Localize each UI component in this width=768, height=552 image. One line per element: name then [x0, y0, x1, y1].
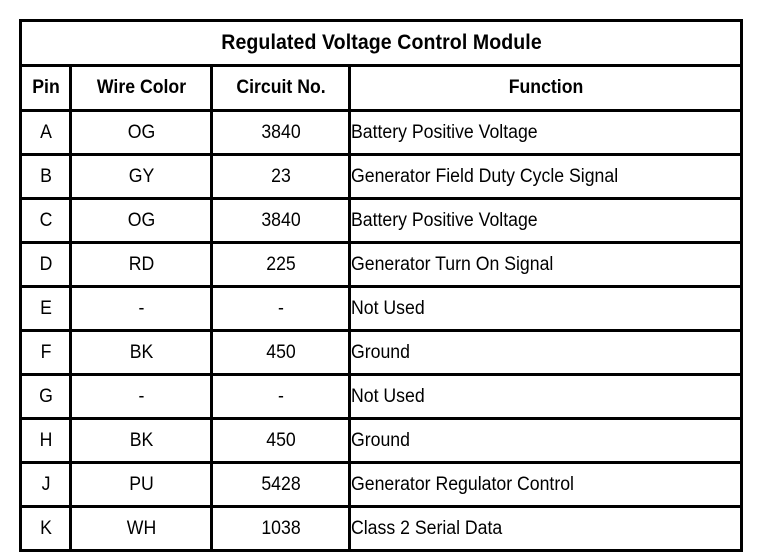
cell-function-text: Battery Positive Voltage [351, 210, 538, 232]
cell-wire-color: - [75, 287, 206, 331]
column-header-wire-color: Wire Color [75, 66, 206, 111]
cell-function: Not Used [350, 287, 742, 331]
cell-wire-color: BK [75, 419, 206, 463]
table-row: KWH1038Class 2 Serial Data [21, 507, 742, 551]
cell-wire-color: PU [75, 463, 206, 507]
cell-function-text: Not Used [351, 298, 425, 320]
cell-circuit-no: 3840 [216, 199, 344, 243]
table-row: AOG3840Battery Positive Voltage [21, 111, 742, 155]
cell-function: Generator Field Duty Cycle Signal [350, 155, 742, 199]
cell-wire-color: RD [75, 243, 206, 287]
cell-wire-color: OG [75, 199, 206, 243]
cell-pin: C [22, 199, 69, 243]
cell-function-text: Battery Positive Voltage [351, 122, 538, 144]
cell-wire-color: WH [75, 507, 206, 551]
table-body: AOG3840Battery Positive VoltageBGY23Gene… [21, 111, 742, 551]
column-header-circuit-no: Circuit No. [216, 66, 344, 111]
page-root: Regulated Voltage Control Module Pin Wir… [0, 0, 768, 532]
cell-pin: D [22, 243, 69, 287]
cell-function: Battery Positive Voltage [350, 199, 742, 243]
cell-circuit-no: 450 [216, 331, 344, 375]
cell-function-text: Generator Field Duty Cycle Signal [351, 166, 618, 188]
cell-pin: G [22, 375, 69, 419]
cell-function-text: Ground [351, 430, 410, 452]
table-row: BGY23Generator Field Duty Cycle Signal [21, 155, 742, 199]
cell-pin: E [22, 287, 69, 331]
table-row: DRD225Generator Turn On Signal [21, 243, 742, 287]
cell-function: Ground [350, 419, 742, 463]
cell-circuit-no: 5428 [216, 463, 344, 507]
cell-circuit-no: 3840 [216, 111, 344, 155]
column-header-function: Function [363, 66, 728, 111]
cell-pin: B [22, 155, 69, 199]
cell-function-text: Ground [351, 342, 410, 364]
cell-function-text: Generator Regulator Control [351, 474, 574, 496]
table-title-row: Regulated Voltage Control Module [21, 21, 742, 66]
cell-function: Generator Turn On Signal [350, 243, 742, 287]
table-row: FBK450Ground [21, 331, 742, 375]
cell-wire-color: GY [75, 155, 206, 199]
cell-circuit-no: 225 [216, 243, 344, 287]
cell-function: Class 2 Serial Data [350, 507, 742, 551]
cell-wire-color: BK [75, 331, 206, 375]
cell-pin: A [22, 111, 69, 155]
pinout-table: Regulated Voltage Control Module Pin Wir… [19, 19, 743, 552]
cell-function: Battery Positive Voltage [350, 111, 742, 155]
cell-circuit-no: - [216, 287, 344, 331]
cell-pin: H [22, 419, 69, 463]
cell-function-text: Generator Turn On Signal [351, 254, 553, 276]
cell-function-text: Class 2 Serial Data [351, 518, 502, 540]
table-title: Regulated Voltage Control Module [46, 21, 717, 66]
cell-function: Generator Regulator Control [350, 463, 742, 507]
table-header: Regulated Voltage Control Module Pin Wir… [21, 21, 742, 111]
cell-pin: K [22, 507, 69, 551]
cell-function: Not Used [350, 375, 742, 419]
cell-wire-color: OG [75, 111, 206, 155]
table-row: HBK450Ground [21, 419, 742, 463]
column-header-pin: Pin [22, 66, 69, 111]
cell-circuit-no: 23 [216, 155, 344, 199]
cell-function: Ground [350, 331, 742, 375]
cell-circuit-no: - [216, 375, 344, 419]
table-row: COG3840Battery Positive Voltage [21, 199, 742, 243]
table-row: E--Not Used [21, 287, 742, 331]
cell-function-text: Not Used [351, 386, 425, 408]
cell-circuit-no: 450 [216, 419, 344, 463]
table-column-header-row: Pin Wire Color Circuit No. Function [21, 66, 742, 111]
cell-circuit-no: 1038 [216, 507, 344, 551]
cell-pin: J [22, 463, 69, 507]
cell-wire-color: - [75, 375, 206, 419]
cell-pin: F [22, 331, 69, 375]
table-row: G--Not Used [21, 375, 742, 419]
table-row: JPU5428Generator Regulator Control [21, 463, 742, 507]
